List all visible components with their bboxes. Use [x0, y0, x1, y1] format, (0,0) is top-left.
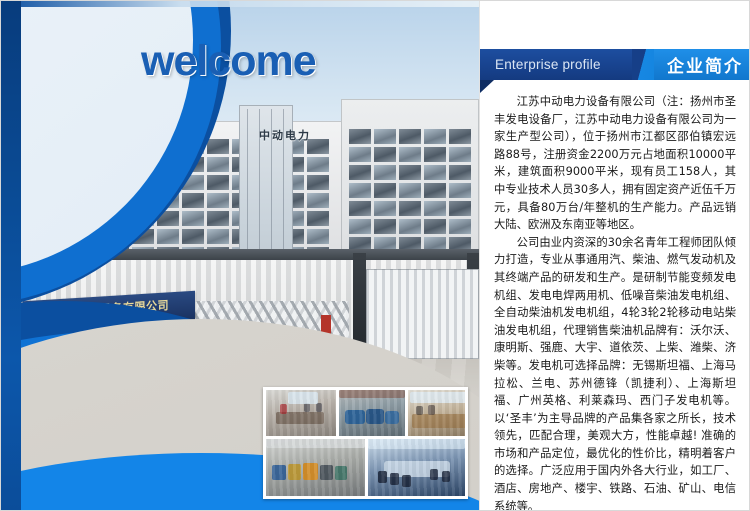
banner-divider-wedge [632, 49, 654, 80]
photo-collage [263, 387, 468, 499]
company-profile-slide: 中动电力 江苏中动电力设备有限公司 Zhongdong Power Equipm… [0, 0, 750, 511]
banner-english-block: Enterprise profile [480, 49, 632, 80]
section-banner: Enterprise profile 企业简介 [480, 49, 750, 80]
banner-tail-triangle [480, 80, 494, 93]
welcome-wordmark: welcome [141, 37, 316, 86]
profile-paragraph-1: 江苏中动电力设备有限公司（注：扬州市圣丰发电设备厂，江苏中动电力设备有限公司为一… [494, 93, 736, 234]
company-profile-text: 江苏中动电力设备有限公司（注：扬州市圣丰发电设备厂，江苏中动电力设备有限公司为一… [494, 93, 736, 511]
profile-paragraph-2: 公司由业内资深的30余名青年工程师团队倾力打造，专业从事通用汽、柴油、燃气发动机… [494, 234, 736, 511]
banner-chinese-block: 企业简介 [654, 49, 750, 80]
left-visual-panel: 中动电力 江苏中动电力设备有限公司 Zhongdong Power Equipm… [1, 1, 479, 511]
banner-chinese-label: 企业简介 [654, 52, 743, 77]
building-rooftop-sign: 中动电力 [259, 127, 311, 143]
left-blue-sidebar [1, 1, 21, 511]
conference-room-photo [368, 439, 465, 496]
generator-workshop-photo [339, 390, 405, 436]
banner-english-label: Enterprise profile [480, 57, 601, 72]
office-meeting-photo [266, 390, 336, 436]
open-office-photo [408, 390, 465, 436]
right-text-panel: Enterprise profile 企业简介 江苏中动电力设备有限公司（注：扬… [479, 1, 750, 511]
factory-fence [366, 269, 479, 359]
collage-row-top [266, 390, 465, 436]
top-highlight-strip [21, 1, 479, 7]
right-building-windows [349, 129, 471, 252]
collage-row-bottom [266, 439, 465, 496]
assembly-line-photo [266, 439, 365, 496]
